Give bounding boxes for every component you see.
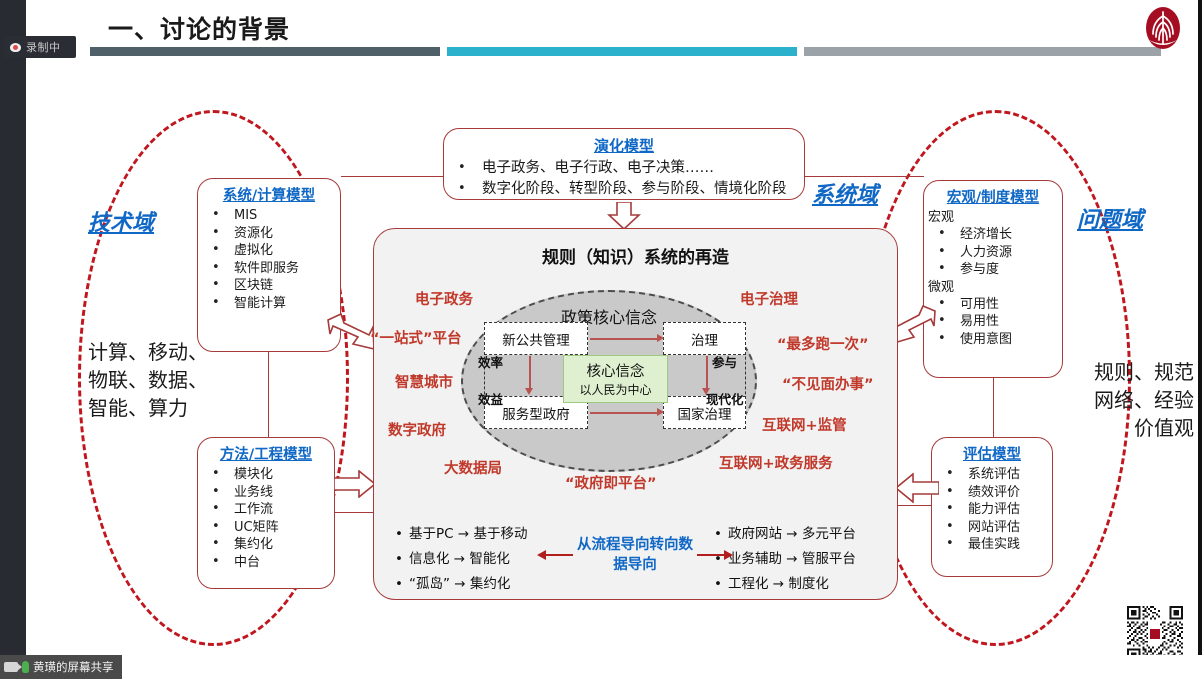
arrowhead-tl-to-tr [657,334,664,342]
list-item: 最佳实践 [940,536,1052,554]
keyword-right-2: “不见面办事” [782,373,874,394]
arrowhead-tl-to-bl [525,388,533,395]
box-evolution-model[interactable]: 演化模型 电子政务、电子行政、电子决策…… 数字化阶段、转型阶段、参与阶段、情境… [443,128,805,200]
recording-label: 录制中 [26,39,61,55]
list-item: 使用意图 [932,331,1062,349]
side-text-technology: 计算、移动、 物联、数据、 智能、算力 [88,338,208,422]
connector-panel-eval-b [898,505,931,506]
screen-share-label: 黄璜的屏幕共享 [33,659,114,675]
list-item: 能力评估 [940,501,1052,519]
list-item: 模块化 [206,466,334,484]
label-technology-domain: 技术域 [88,205,154,237]
box-method-title: 方法/工程模型 [198,443,334,464]
recording-indicator: 录制中 [4,36,76,58]
bottom-list-left: 基于PC → 基于移动 信息化 → 智能化 “孤岛” → 集约化 [393,522,527,597]
list-item: 业务辅助 → 管服平台 [712,547,856,572]
microphone-icon [22,661,29,673]
connector-left-vertical [268,352,269,437]
camera-icon [4,662,18,672]
keyword-bottom: “政府即平台” [565,472,657,493]
hollow-arrow-right-down-icon [324,312,376,352]
box-macro-list-micro: 可用性 易用性 使用意图 [924,296,1062,349]
label-modernization: 现代化 [706,389,744,408]
hollow-arrow-down-icon [606,202,642,230]
list-item: MIS [206,207,340,225]
box-evolution-list: 电子政务、电子行政、电子决策…… 数字化阶段、转型阶段、参与阶段、情境化阶段 [444,158,804,200]
hollow-arrow-left-icon-right [895,473,939,503]
list-item: 集约化 [206,536,334,554]
box-macro-group-label-micro: 微观 [924,279,1062,296]
right-edge-strip [1198,0,1202,679]
university-logo-icon [1143,6,1183,50]
hollow-arrow-right-icon-left [334,470,376,498]
arrowhead-note-left [537,550,546,560]
list-item: 参与度 [932,261,1062,279]
header-bar-cyan [447,47,797,56]
label-efficiency: 效率 [478,352,503,371]
core-belief-subtitle: 以人民为中心 [564,381,667,398]
list-item: 绩效评价 [940,484,1052,502]
list-item: “孤岛” → 集约化 [393,572,527,597]
core-belief-box: 核心信念 以人民为中心 [563,355,668,403]
arrow-tr-to-br [706,356,708,390]
list-item: UC矩阵 [206,519,334,537]
arrow-tl-to-tr [590,338,658,340]
list-item: 虚拟化 [206,242,340,260]
list-item: 工作流 [206,501,334,519]
keyword-left-4: 大数据局 [444,457,502,478]
label-system-domain: 系统域 [812,177,878,209]
box-system-title: 系统/计算模型 [198,184,340,205]
cell-new-public-management: 新公共管理 [484,322,588,355]
bottom-list-right: 政府网站 → 多元平台 业务辅助 → 管服平台 工程化 → 制度化 [712,522,856,597]
box-macro-title: 宏观/制度模型 [924,186,1062,207]
connector-right-vertical [993,378,994,437]
label-participation: 参与 [712,352,737,371]
list-item: 系统评估 [940,466,1052,484]
label-benefit: 效益 [478,389,503,408]
arrow-note-right [697,554,725,556]
cell-governance: 治理 [663,322,746,355]
list-item: 电子政务、电子行政、电子决策…… [452,158,804,179]
slide-stage: 录制中 一、讨论的背景 技术域 系统域 问题域 计算、移动、 物联、数据、 智能… [0,0,1202,679]
list-item: 政府网站 → 多元平台 [712,522,856,547]
arrow-tl-to-bl [529,356,531,390]
box-macro-group-label-macro: 宏观 [924,209,1062,226]
keyword-left-2: 智慧城市 [395,371,453,392]
bottom-middle-note: 从流程导向转向数据导向 [575,535,695,575]
connector-method-panel [335,512,373,513]
list-item: 区块链 [206,277,340,295]
keyword-right-3: 互联网+监管 [762,414,847,435]
keyword-right-1: “最多跑一次” [777,333,869,354]
box-system-list: MIS 资源化 虚拟化 软件即服务 区块链 智能计算 [198,207,340,312]
header-bar-slate [90,47,440,56]
arrowhead-note-right [724,550,733,560]
list-item: 易用性 [932,313,1062,331]
box-macro-list-macro: 经济增长 人力资源 参与度 [924,226,1062,279]
list-item: 经济增长 [932,226,1062,244]
recording-dot-icon [10,43,21,52]
list-item: 资源化 [206,225,340,243]
label-problem-domain: 问题域 [1077,202,1143,234]
keyword-right-4: 互联网+政务服务 [719,452,833,473]
hollow-arrow-left-down-icon [893,305,939,347]
arrow-note-left [545,554,573,556]
list-item: 数字化阶段、转型阶段、参与阶段、情境化阶段 [452,179,804,200]
box-method-list: 模块化 业务线 工作流 UC矩阵 集约化 中台 [198,466,334,571]
keyword-left-3: 数字政府 [388,419,446,440]
list-item: 工程化 → 制度化 [712,572,856,597]
box-method-engineering-model[interactable]: 方法/工程模型 模块化 业务线 工作流 UC矩阵 集约化 中台 [197,437,335,589]
list-item: 基于PC → 基于移动 [393,522,527,547]
arrowhead-tr-to-br [702,388,710,395]
box-evaluation-model[interactable]: 评估模型 系统评估 绩效评价 能力评估 网站评估 最佳实践 [931,437,1053,577]
box-evolution-title: 演化模型 [444,135,804,156]
connector-evo-right [805,176,924,177]
bottom-bar [0,655,1202,679]
central-panel-title: 规则（知识）系统的再造 [374,243,897,268]
screen-share-indicator[interactable]: 黄璜的屏幕共享 [0,655,122,679]
page-title: 一、讨论的背景 [108,10,290,46]
list-item: 人力资源 [932,244,1062,262]
box-system-compute-model[interactable]: 系统/计算模型 MIS 资源化 虚拟化 软件即服务 区块链 智能计算 [197,178,341,352]
list-item: 网站评估 [940,519,1052,537]
header-bar-gray [804,47,1161,56]
list-item: 业务线 [206,484,334,502]
list-item: 智能计算 [206,295,340,313]
list-item: 中台 [206,554,334,572]
connector-evo-left [341,176,444,177]
list-item: 软件即服务 [206,260,340,278]
box-macro-institution-model[interactable]: 宏观/制度模型 宏观 经济增长 人力资源 参与度 微观 可用性 易用性 使用意图 [923,180,1063,378]
core-belief-title: 核心信念 [564,360,667,381]
box-eval-list: 系统评估 绩效评价 能力评估 网站评估 最佳实践 [932,466,1052,554]
side-text-problem: 规则、规范 网络、经验 价值观 [1048,358,1194,442]
arrowhead-bl-to-br [657,408,664,416]
list-item: 信息化 → 智能化 [393,547,527,572]
box-eval-title: 评估模型 [932,443,1052,464]
keyword-left-1: “一站式”平台 [370,327,462,348]
arrow-bl-to-br [590,412,658,414]
list-item: 可用性 [932,296,1062,314]
meeting-left-rail [0,0,26,655]
